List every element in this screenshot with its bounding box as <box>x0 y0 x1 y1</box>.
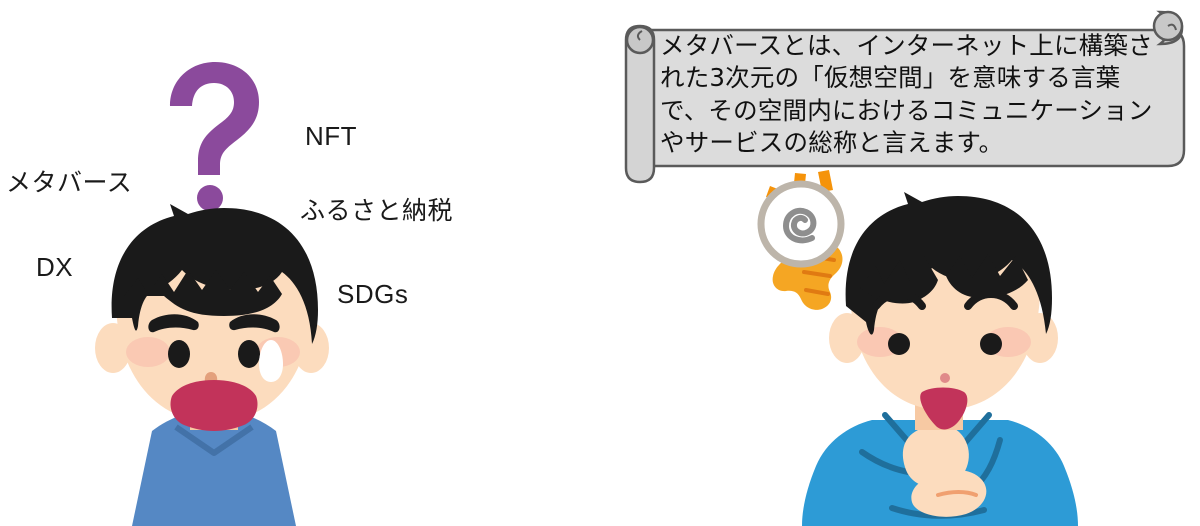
label-sdgs: SDGs <box>337 281 408 307</box>
lightbulb-icon <box>761 170 842 310</box>
label-dx: DX <box>36 254 73 280</box>
callout-text: メタバースとは、インターネット上に構築された3次元の「仮想空間」を意味する言葉で… <box>660 30 1164 159</box>
explanation-callout: メタバースとは、インターネット上に構築された3次元の「仮想空間」を意味する言葉で… <box>612 8 1188 188</box>
label-nft: NFT <box>305 123 357 149</box>
label-metaverse: メタバース <box>6 170 132 195</box>
label-furusato-nozei: ふるさと納税 <box>300 198 453 223</box>
illustration-canvas: メタバースとは、インターネット上に構築された3次元の「仮想空間」を意味する言葉で… <box>0 0 1200 526</box>
